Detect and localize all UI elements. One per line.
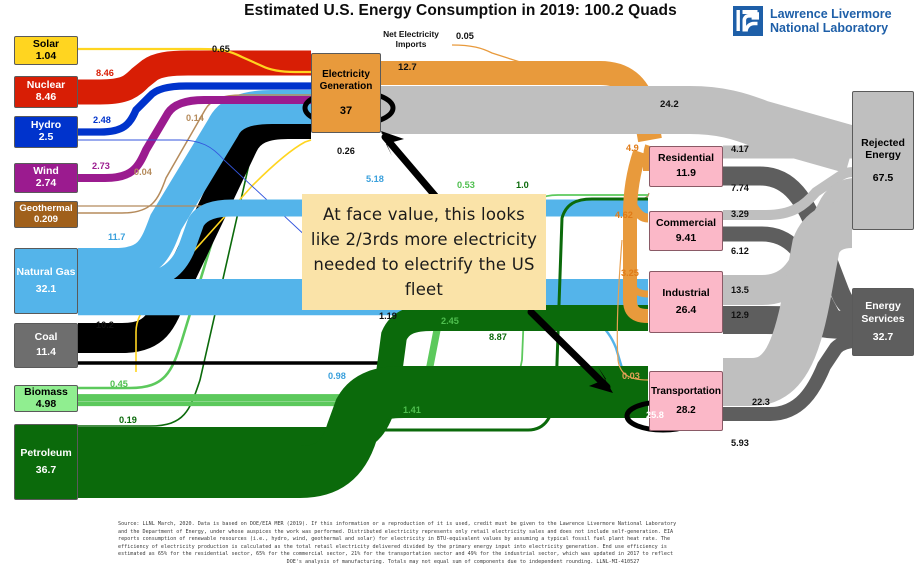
flow-label-geothermal-residential: 0.04 <box>134 167 152 177</box>
annotation-note-text: At face value, this looks like 2/3rds mo… <box>310 202 538 302</box>
footer-line-5: estimated as 65% for the residential sec… <box>118 551 808 559</box>
node-hydro-value: 2.5 <box>39 132 54 144</box>
flow-label-geothermal-electricity: 0.14 <box>186 113 204 123</box>
node-natural-gas[interactable]: Natural Gas 32.1 <box>14 248 78 314</box>
footer-line-3: reports consumption of renewable resourc… <box>118 536 808 544</box>
node-biomass-label: Biomass <box>24 387 68 399</box>
flow-label-nuclear-electricity: 8.46 <box>96 68 114 78</box>
node-rejected-energy-value: 67.5 <box>873 173 893 185</box>
flow-label-coal-industrial: 1.19 <box>379 311 397 321</box>
node-hydro[interactable]: Hydro 2.5 <box>14 116 78 148</box>
flow-label-biomass-industrial: 2.45 <box>441 316 459 326</box>
flow-label-biomass-electricity: 0.45 <box>110 379 128 389</box>
node-industrial-value: 26.4 <box>676 305 696 317</box>
net-electricity-imports-label: Net ElectricityImports <box>373 29 449 49</box>
flow-label-transportation-rejected: 22.3 <box>752 397 770 407</box>
flow-label-industrial-rejected: 13.5 <box>731 285 749 295</box>
footer-line-4: efficiency of electricity production is … <box>118 544 808 552</box>
flow-label-commercial-rejected: 3.29 <box>731 209 749 219</box>
flow-label-petroleum-commercial: 1.0 <box>516 180 529 190</box>
node-transportation[interactable]: Transportation 28.2 <box>649 371 723 431</box>
flow-label-hydro-electricity: 2.48 <box>93 115 111 125</box>
flow-label-electricity-industrial: 3.25 <box>621 268 639 278</box>
flow-label-biomass-transportation: 1.41 <box>403 405 421 415</box>
node-commercial[interactable]: Commercial 9.41 <box>649 211 723 251</box>
footer-line-6: DOE's analysis of manufacturing. Totals … <box>118 559 808 567</box>
node-solar-value: 1.04 <box>36 51 56 63</box>
flow-label-electricity-rejected: 24.2 <box>660 99 679 110</box>
flow-label-naturalgas-electricity: 11.7 <box>108 232 125 242</box>
node-geothermal[interactable]: Geothermal 0.209 <box>14 201 78 228</box>
flow-label-residential-services: 7.74 <box>731 183 749 193</box>
flow-label-petroleum-electricity: 0.19 <box>119 415 137 425</box>
flow-label-petroleum-industrial: 8.87 <box>489 332 507 342</box>
sankey-diagram-page: Estimated U.S. Energy Consumption in 201… <box>0 0 921 572</box>
node-rejected-energy[interactable]: Rejected Energy 67.5 <box>852 91 914 230</box>
node-electricity-generation[interactable]: Electricity Generation 37 <box>311 53 381 133</box>
flow-label-residential-rejected: 4.17 <box>731 144 749 154</box>
flow-label-transportation-services: 5.93 <box>731 438 749 448</box>
node-energy-services-label: Energy Services <box>853 300 913 325</box>
annotation-note: At face value, this looks like 2/3rds mo… <box>302 194 546 310</box>
flow-label-imports: 0.05 <box>456 31 474 41</box>
node-petroleum-value: 36.7 <box>36 465 56 477</box>
node-biomass-value: 4.98 <box>36 399 56 411</box>
node-rejected-energy-label: Rejected Energy <box>853 137 913 162</box>
node-coal[interactable]: Coal 11.4 <box>14 323 78 368</box>
flow-label-commercial-services: 6.12 <box>731 246 749 256</box>
node-wind-value: 2.74 <box>36 178 56 190</box>
node-industrial-label: Industrial <box>662 288 709 300</box>
node-energy-services-name: Energy Services <box>861 300 904 325</box>
flow-label-petroleum-transportation: 25.8 <box>646 410 664 420</box>
flow-label-naturalgas-transportation: 0.98 <box>328 371 346 381</box>
flow-label-electricity-distributed: 12.7 <box>398 62 417 73</box>
node-coal-label: Coal <box>35 332 58 344</box>
flow-label-biomass-residential: 0.53 <box>457 180 475 190</box>
node-electricity-generation-label: Electricity Generation <box>312 69 380 93</box>
flow-electricity-rejected <box>381 110 852 150</box>
flow-label-electricity-commercial: 4.62 <box>615 210 633 220</box>
node-coal-value: 11.4 <box>36 347 56 359</box>
node-residential-label: Residential <box>658 153 714 165</box>
footer-line-1: Source: LLNL March, 2020. Data is based … <box>118 521 808 529</box>
node-natural-gas-label: Natural Gas <box>17 267 76 279</box>
node-residential-value: 11.9 <box>676 168 696 180</box>
flow-label-solar-residential: 0.26 <box>337 146 355 156</box>
node-wind[interactable]: Wind 2.74 <box>14 163 78 193</box>
flow-label-electricity-residential: 4.9 <box>626 143 639 153</box>
node-petroleum[interactable]: Petroleum 36.7 <box>14 424 78 500</box>
footer-line-2: and the Department of Energy, under whos… <box>118 529 808 537</box>
node-solar[interactable]: Solar 1.04 <box>14 36 78 65</box>
node-industrial[interactable]: Industrial 26.4 <box>649 271 723 333</box>
flow-label-industrial-services: 12.9 <box>731 310 749 320</box>
node-rejected-energy-name: Rejected Energy <box>861 137 905 162</box>
node-nuclear[interactable]: Nuclear 8.46 <box>14 76 78 108</box>
node-energy-services-value: 32.7 <box>873 332 893 344</box>
node-natural-gas-value: 32.1 <box>36 284 56 296</box>
flow-label-solar-electricity: 0.65 <box>212 44 230 54</box>
node-transportation-value: 28.2 <box>676 405 695 416</box>
flow-label-wind-electricity: 2.73 <box>92 161 110 171</box>
annotation-arrow-to-electricity <box>385 137 437 198</box>
node-geothermal-value: 0.209 <box>34 215 58 226</box>
flow-label-electricity-transportation: 0.03 <box>622 371 640 381</box>
flow-label-coal-electricity: 10.2 <box>96 320 114 330</box>
flow-label-naturalgas-buildings: 5.18 <box>366 174 384 184</box>
node-geothermal-label: Geothermal <box>19 204 72 215</box>
node-solar-label: Solar <box>33 39 59 51</box>
node-commercial-label: Commercial <box>656 218 716 230</box>
flow-imports-electricity <box>452 45 520 62</box>
node-petroleum-label: Petroleum <box>20 448 71 460</box>
node-nuclear-value: 8.46 <box>36 92 56 104</box>
node-residential[interactable]: Residential 11.9 <box>649 146 723 187</box>
node-commercial-value: 9.41 <box>676 233 696 245</box>
node-electricity-generation-value: 37 <box>340 105 352 117</box>
node-transportation-label: Transportation <box>651 386 721 397</box>
node-energy-services[interactable]: Energy Services 32.7 <box>852 288 914 356</box>
node-biomass[interactable]: Biomass 4.98 <box>14 385 78 412</box>
footer-source-note: Source: LLNL March, 2020. Data is based … <box>118 521 808 567</box>
